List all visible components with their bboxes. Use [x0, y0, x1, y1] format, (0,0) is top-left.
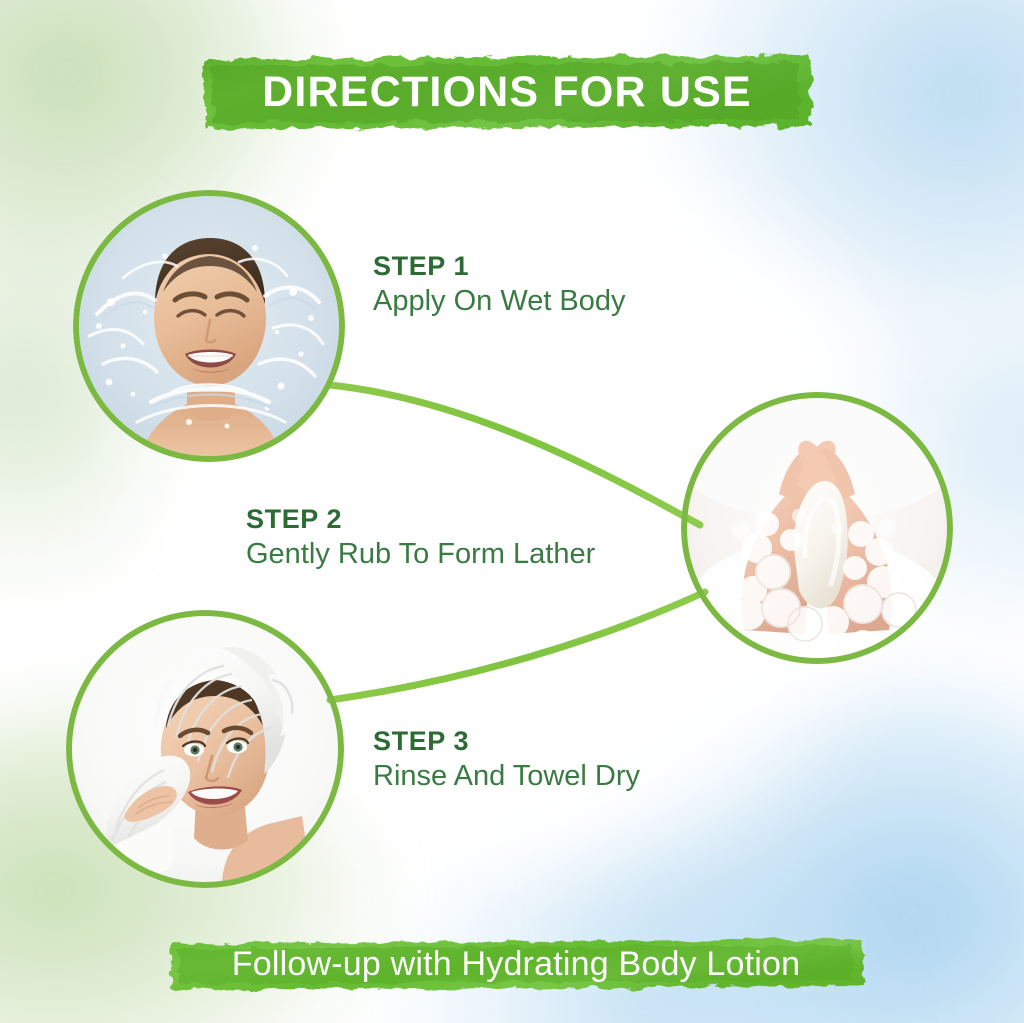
step-3-text: STEP 3 Rinse And Towel Dry	[373, 727, 640, 793]
soap-lather-hands-illustration	[687, 398, 947, 658]
wash-blue-top-right	[654, 0, 1024, 310]
wash-blue-bottom	[384, 833, 904, 1023]
connector-step2-step3	[330, 592, 705, 700]
step-3-photo-art	[72, 616, 338, 882]
step-2-label: STEP 2	[246, 505, 595, 535]
step-3-description: Rinse And Towel Dry	[373, 760, 640, 793]
step-2-description: Gently Rub To Form Lather	[246, 538, 595, 571]
step-1-text: STEP 1 Apply On Wet Body	[373, 252, 626, 318]
header-title: DIRECTIONS FOR USE	[262, 68, 752, 117]
step-1-description: Apply On Wet Body	[373, 285, 626, 318]
water-splash-face-illustration	[79, 196, 339, 456]
step-3-label: STEP 3	[373, 727, 640, 757]
footer-note: Follow-up with Hydrating Body Lotion	[232, 945, 800, 984]
footer-banner: Follow-up with Hydrating Body Lotion	[166, 936, 866, 992]
step-1-label: STEP 1	[373, 252, 626, 282]
step-2-photo	[681, 392, 953, 664]
step-1-photo	[73, 190, 345, 462]
step-3-photo	[66, 610, 344, 888]
step-2-text: STEP 2 Gently Rub To Form Lather	[246, 505, 595, 571]
infographic-root: DIRECTIONS FOR USE	[0, 0, 1024, 1023]
connector-step1-step2	[330, 385, 700, 525]
step-1-photo-art	[79, 196, 339, 456]
towel-dry-face-illustration	[72, 616, 338, 882]
header-banner: DIRECTIONS FOR USE	[198, 50, 816, 134]
step-2-photo-art	[687, 398, 947, 658]
